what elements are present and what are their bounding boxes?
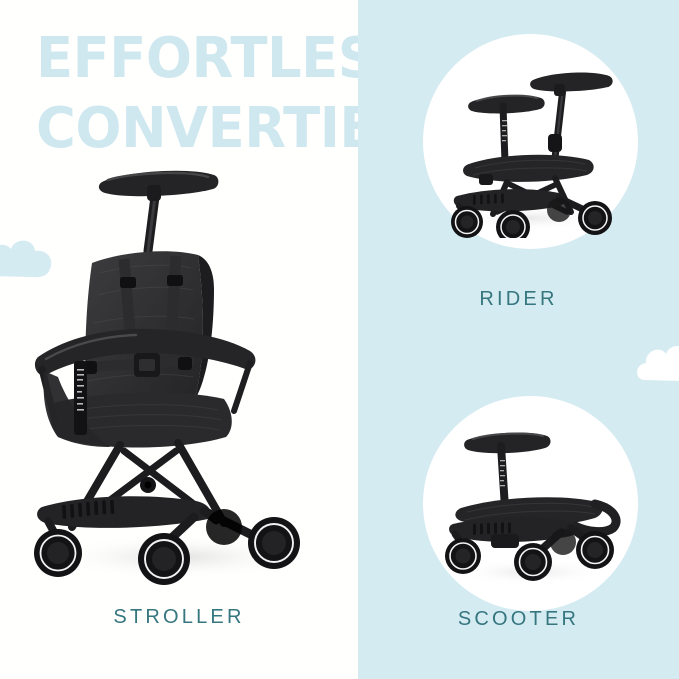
rider-illustration bbox=[435, 46, 627, 238]
wheel bbox=[138, 533, 190, 585]
wheel bbox=[550, 529, 576, 555]
scooter-illustration bbox=[435, 412, 627, 594]
wheel bbox=[547, 198, 571, 222]
stroller-illustration bbox=[28, 155, 328, 585]
wheel bbox=[578, 201, 612, 235]
wheel bbox=[445, 538, 481, 574]
wheel bbox=[34, 529, 82, 577]
wheel bbox=[451, 206, 483, 238]
promo-image: EFFORTLESSLY CONVERTIBLE bbox=[0, 0, 679, 679]
caption-scooter: SCOOTER bbox=[358, 608, 679, 631]
caption-rider: RIDER bbox=[358, 288, 679, 311]
wheel bbox=[576, 531, 614, 569]
headline-line-1: EFFORTLESSLY bbox=[36, 24, 366, 94]
caption-stroller: STROLLER bbox=[0, 606, 358, 629]
headline-line-2: CONVERTIBLE bbox=[36, 94, 366, 164]
wheel bbox=[206, 509, 242, 545]
wheel bbox=[248, 517, 300, 569]
wheel bbox=[514, 543, 552, 581]
headline: EFFORTLESSLY CONVERTIBLE bbox=[36, 24, 376, 164]
